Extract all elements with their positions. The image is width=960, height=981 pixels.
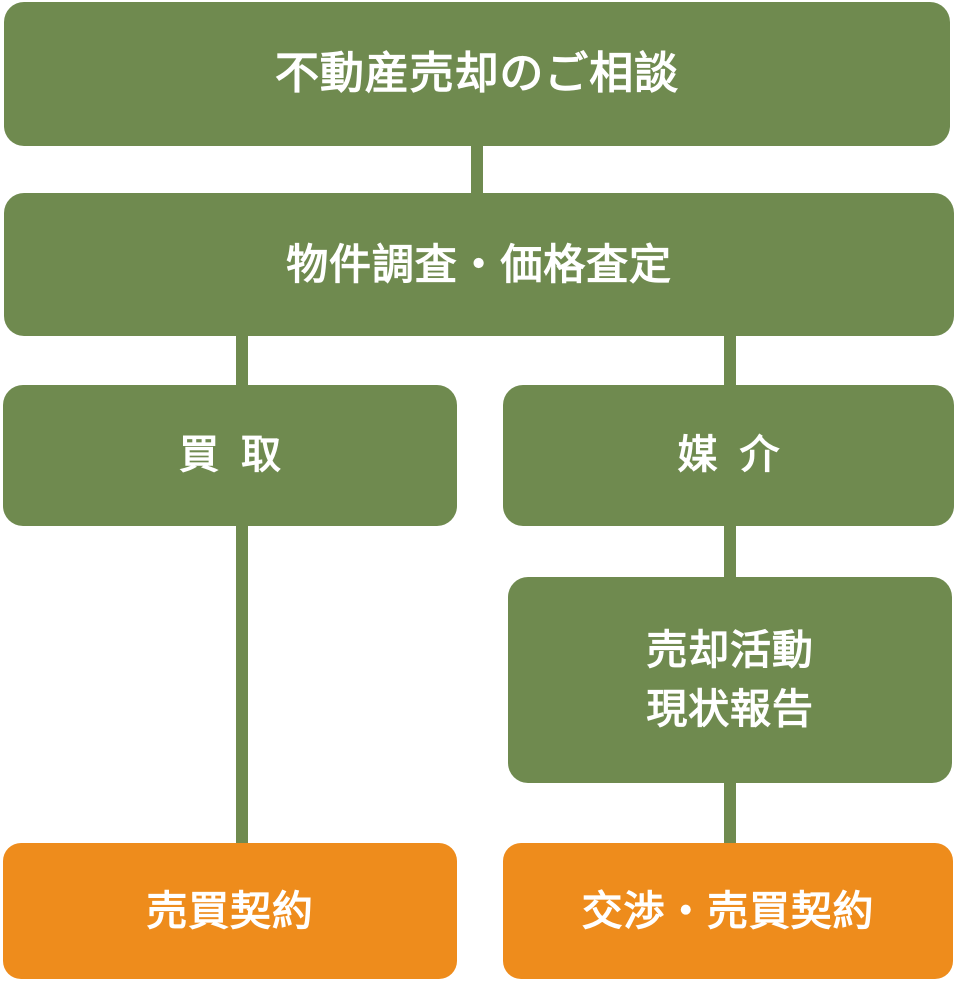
node-sales-contract: 売買契約 bbox=[3, 843, 457, 979]
node-brokerage: 媒介 bbox=[503, 385, 954, 526]
node-consultation: 不動産売却のご相談 bbox=[4, 2, 950, 146]
flowchart-canvas: 不動産売却のご相談 物件調査・価格査定 買取 媒介 売却活動 現状報告 売買契約… bbox=[0, 0, 960, 981]
node-purchase: 買取 bbox=[3, 385, 457, 526]
node-sales-activity-status-report: 売却活動 現状報告 bbox=[508, 577, 952, 783]
connector-consult-to-survey bbox=[471, 140, 483, 198]
connector-activity-to-contract-right bbox=[724, 778, 736, 848]
node-negotiation-sales-contract: 交渉・売買契約 bbox=[503, 843, 953, 979]
connector-purchase-to-contract-left bbox=[236, 520, 248, 850]
connector-survey-to-purchase bbox=[236, 330, 248, 390]
node-activity-line-2: 現状報告 bbox=[646, 680, 813, 739]
node-property-survey-appraisal: 物件調査・価格査定 bbox=[4, 193, 954, 336]
connector-brokerage-to-activity bbox=[724, 520, 736, 582]
node-activity-line-1: 売却活動 bbox=[646, 621, 813, 680]
connector-survey-to-brokerage bbox=[724, 330, 736, 390]
